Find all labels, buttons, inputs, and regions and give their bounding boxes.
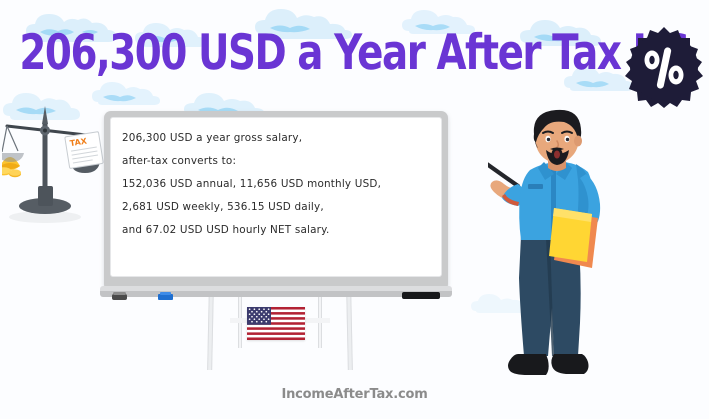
cloud-icon [250,2,380,42]
cloud-icon [516,14,636,50]
whiteboard-line: 152,036 USD annual, 11,656 USD monthly U… [122,173,434,196]
whiteboard-stand [200,288,360,370]
balance-scale-icon: TAX [2,104,114,226]
us-flag-icon [247,307,305,340]
cloud-icon [130,16,226,50]
black-marker [402,292,440,299]
stand-leg [207,288,214,370]
whiteboard-text: 206,300 USD a year gross salary, after-t… [122,127,434,242]
percent-badge-icon [621,24,707,110]
teacher-character [488,108,628,383]
footer: IncomeAfterTax.com [0,385,709,403]
cloud-icon [398,4,503,38]
folder-icon [549,208,598,268]
stand-leg [346,288,353,370]
whiteboard-tray [100,286,452,297]
infographic-canvas: 206,300 USD a Year After Tax US [0,0,709,419]
whiteboard: 206,300 USD a year gross salary, after-t… [104,111,448,291]
whiteboard-line: and 67.02 USD USD hourly NET salary. [122,219,434,242]
site-name[interactable]: IncomeAfterTax.com [281,387,427,402]
whiteboard-eraser [112,294,127,300]
cloud-icon [20,6,140,46]
whiteboard-line: after-tax converts to: [122,150,434,173]
pointer-stick [488,138,518,186]
whiteboard-line: 206,300 USD a year gross salary, [122,127,434,150]
blue-marker [158,294,173,300]
whiteboard-line: 2,681 USD weekly, 536.15 USD daily, [122,196,434,219]
